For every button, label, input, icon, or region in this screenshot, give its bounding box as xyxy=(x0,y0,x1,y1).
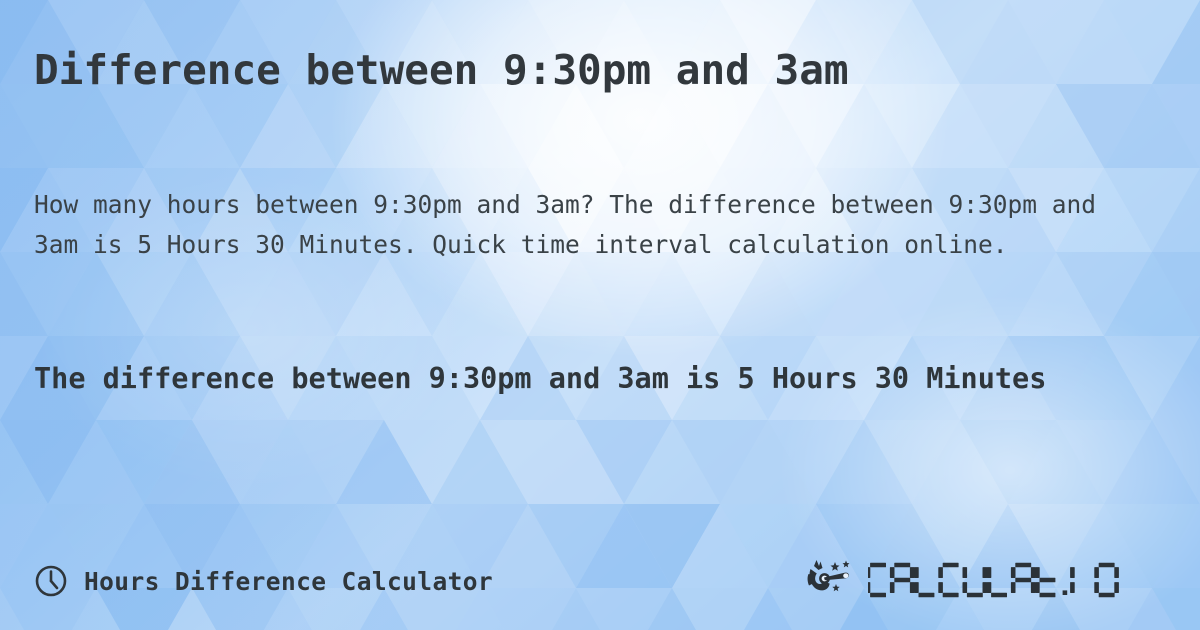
page-description: How many hours between 9:30pm and 3am? T… xyxy=(34,185,1114,265)
clock-icon xyxy=(34,564,68,598)
magic-wand-hand-icon xyxy=(806,557,860,605)
card-footer: Hours Difference Calculator xyxy=(0,556,1200,606)
page-title: Difference between 9:30pm and 3am xyxy=(34,44,1164,96)
share-card: Difference between 9:30pm and 3am How ma… xyxy=(0,0,1200,630)
brand-wordmark xyxy=(868,559,1166,603)
result-statement: The difference between 9:30pm and 3am is… xyxy=(34,355,1094,403)
card-content: Difference between 9:30pm and 3am How ma… xyxy=(0,0,1200,630)
brand-logo xyxy=(806,557,1166,605)
footer-tool-label: Hours Difference Calculator xyxy=(84,567,493,596)
footer-tool: Hours Difference Calculator xyxy=(34,564,493,598)
